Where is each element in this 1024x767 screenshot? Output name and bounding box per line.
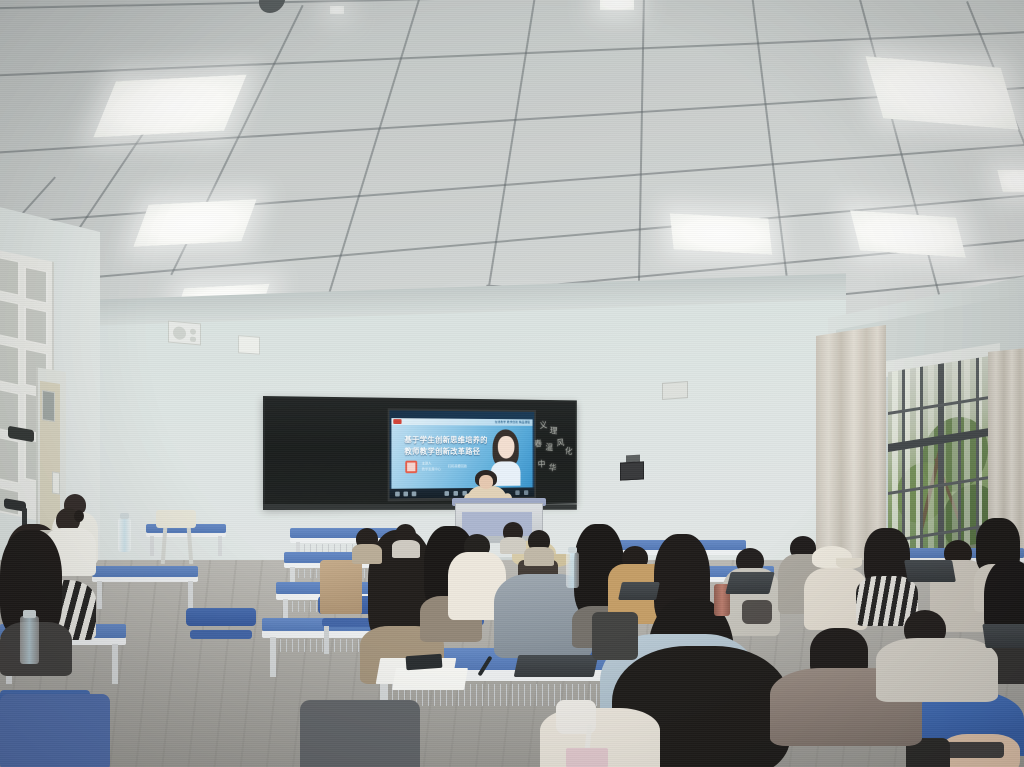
wall-speaker (168, 321, 201, 346)
ceiling-light-panel (330, 6, 344, 14)
glasses (942, 742, 1004, 758)
light-switch[interactable] (52, 471, 60, 494)
chalk-writing: 义 理 春 温 风 化 中 华 (531, 417, 575, 479)
teacher-chair (156, 510, 196, 528)
student-desk (92, 566, 198, 598)
slide-subtext-1: 主讲人 (422, 462, 432, 467)
jacket-on-chair (320, 560, 362, 614)
ceiling-light-panel (865, 56, 1018, 130)
water-bottle (566, 552, 579, 588)
door-window (42, 390, 55, 422)
chalk-char: 义 (539, 418, 548, 431)
student (500, 522, 526, 552)
student (352, 528, 382, 562)
ceiling-light-panel (997, 170, 1024, 192)
qr-code-inner (407, 463, 415, 472)
chalk-char: 化 (564, 444, 573, 457)
wall-control-box[interactable] (238, 335, 260, 355)
notebook-paper (392, 668, 468, 690)
handbag (742, 600, 772, 624)
slide-title-line-2: 教师教学创新改革路径 (404, 446, 480, 457)
slide-title-line-1: 基于学生创新思维培养的 (404, 435, 487, 446)
drink-cup (566, 748, 608, 767)
bottle-cap (568, 547, 577, 553)
student (524, 530, 554, 564)
hair-bun (74, 510, 84, 522)
ceiling-light-panel (670, 213, 772, 254)
chalk-char: 风 (556, 436, 565, 449)
laptop[interactable] (514, 655, 599, 677)
classroom-photo: 在线教学 教学创新 精品课程 基于学生创新思维培养的 教师教学创新改革路径 主讲… (0, 0, 1024, 767)
water-bottle (20, 616, 39, 664)
ceiling-light-panel (93, 75, 246, 138)
bottle-cap (120, 513, 129, 519)
laptop[interactable] (982, 624, 1024, 648)
smartphone[interactable] (406, 654, 443, 670)
student (0, 676, 110, 767)
presentation-slide: 在线教学 教学创新 精品课程 基于学生创新思维培养的 教师教学创新改革路径 主讲… (391, 418, 532, 492)
student (392, 524, 420, 556)
wall-device[interactable] (620, 461, 644, 480)
laptop[interactable] (618, 582, 660, 600)
bottle-cap (23, 610, 36, 618)
chalk-char: 理 (549, 424, 558, 437)
chalk-char: 华 (548, 461, 557, 474)
student (876, 610, 996, 696)
student (300, 700, 420, 767)
laptop[interactable] (904, 560, 956, 582)
chalk-char: 温 (545, 441, 553, 454)
wall-speaker (662, 381, 688, 400)
slide-logo-icon (393, 419, 401, 424)
ceiling-light-panel (133, 199, 256, 247)
ceiling-light-panel (850, 210, 966, 257)
chalk-char: 中 (537, 457, 545, 470)
water-bottle (118, 518, 131, 552)
laptop[interactable] (725, 572, 774, 594)
backpack (592, 612, 638, 660)
ceiling-light-panel (600, 0, 634, 10)
chalk-char: 春 (534, 437, 543, 450)
student-chair (186, 608, 256, 654)
interactive-display[interactable]: 在线教学 教学创新 精品课程 基于学生创新思维培养的 教师教学创新改革路径 主讲… (388, 408, 536, 501)
blackboard: 在线教学 教学创新 精品课程 基于学生创新思维培养的 教师教学创新改革路径 主讲… (263, 396, 577, 508)
slide-subtext-2: 教学发展中心 (422, 467, 441, 472)
slide-header-text: 在线教学 教学创新 精品课程 (495, 420, 530, 424)
slide-subtext-3: 扫码观看回放 (448, 464, 467, 469)
